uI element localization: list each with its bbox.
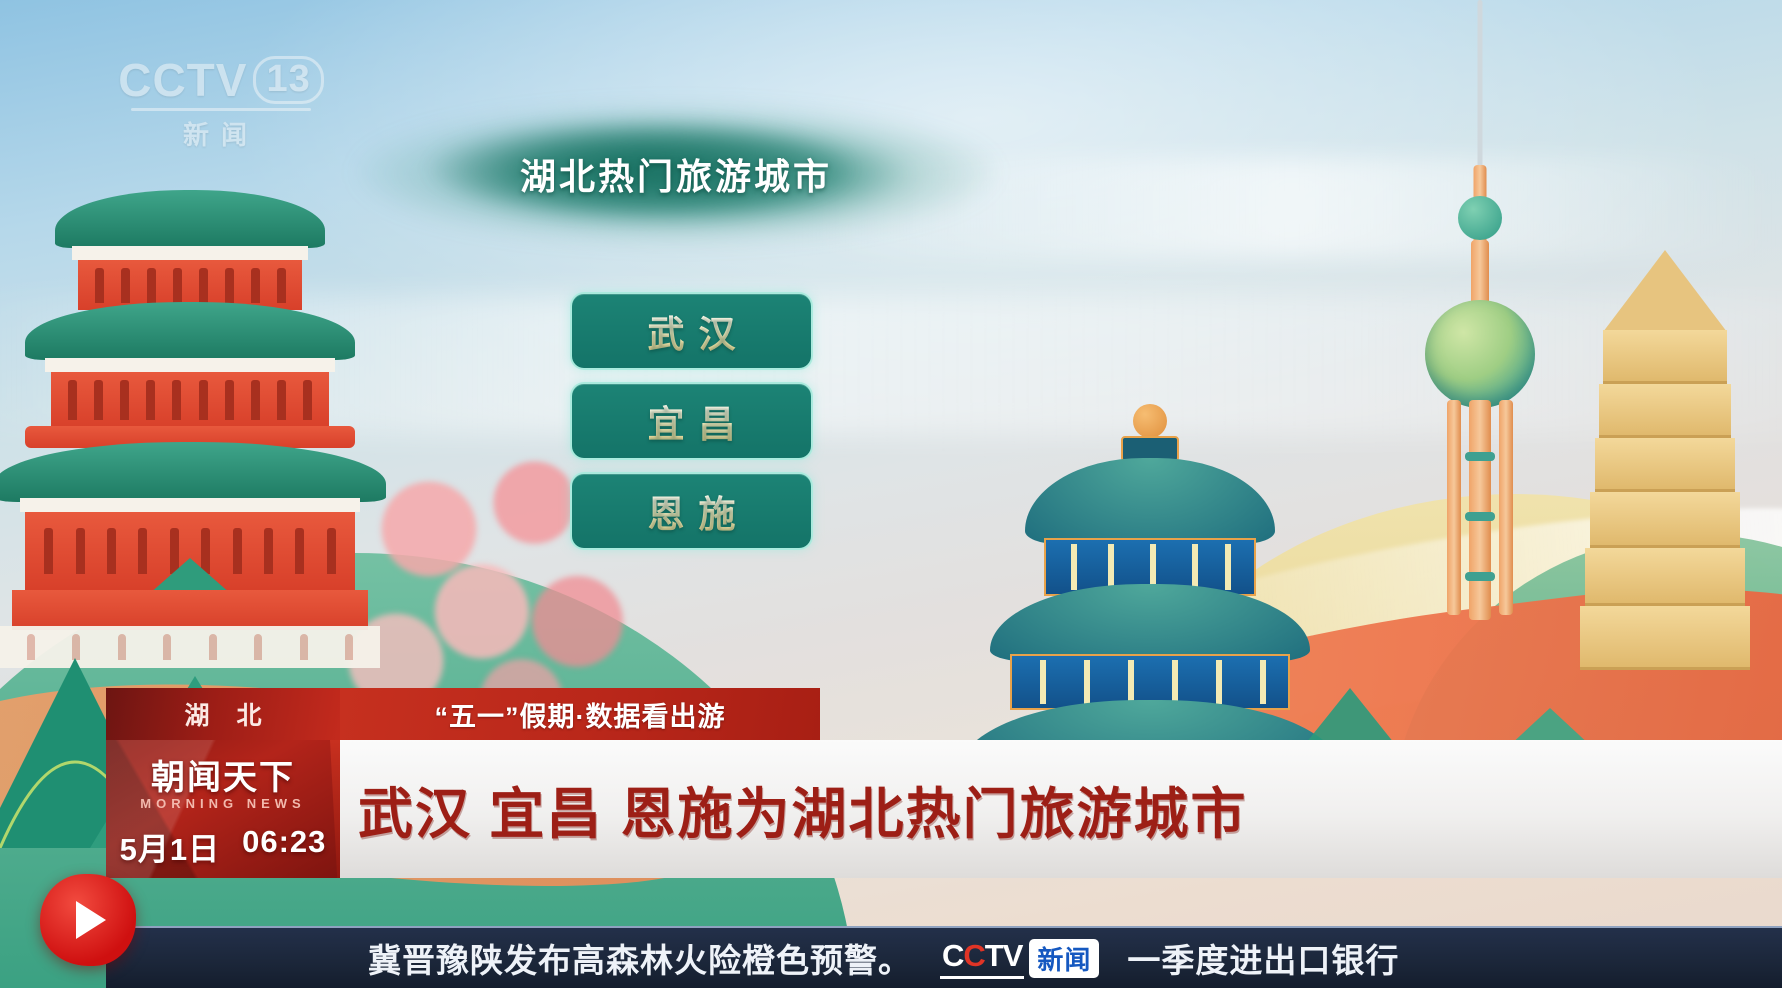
- cctv-news-logo: CCTV 新闻: [940, 938, 1099, 979]
- watermark-cctv-text: CCTV: [118, 57, 247, 103]
- cctv-letters-tv: TV: [985, 938, 1023, 973]
- cctv-logo-text: CCTV: [940, 938, 1024, 979]
- topic-strip: 湖 北 “五一”假期·数据看出游: [106, 688, 820, 740]
- oriental-pearl-tower-illustration: [1420, 0, 1540, 620]
- headline-text: 武汉 宜昌 恩施为湖北热门旅游城市: [358, 769, 1248, 849]
- broadcast-date: 5月1日: [120, 824, 220, 869]
- program-name-en: MORNING NEWS: [106, 796, 340, 811]
- news-badge: 新闻: [1029, 939, 1099, 978]
- cctv-letter-c2: C: [963, 938, 984, 973]
- ticker-item-1: 冀晋豫陕发布高森林火险橙色预警。: [368, 934, 912, 982]
- region-badge: 湖 北: [106, 688, 340, 740]
- lower-third: 湖 北 “五一”假期·数据看出游 朝闻天下 MORNING NEWS 5月1日 …: [0, 688, 1782, 988]
- golden-pagoda-illustration: [1580, 250, 1750, 670]
- graphic-title: 湖北热门旅游城市: [356, 148, 996, 200]
- watermark-rule: [131, 108, 311, 111]
- region-label: 湖 北: [175, 696, 272, 732]
- cctv13-watermark: CCTV 13 新闻: [96, 56, 346, 166]
- broadcast-screen: CCTV 13 新闻 湖北热门旅游城市 武汉 宜昌 恩施 湖 北 “五一”假期·…: [0, 0, 1782, 988]
- yangshipin-play-logo: [40, 874, 136, 966]
- watermark-subtitle: 新闻: [96, 115, 346, 152]
- cctv-letter-c1: C: [942, 938, 963, 973]
- news-ticker[interactable]: 冀晋豫陕发布高森林火险橙色预警。 CCTV 新闻 一季度进出口银行: [106, 926, 1782, 988]
- city-button-wuhan[interactable]: 武汉: [570, 292, 813, 370]
- topic-label: “五一”假期·数据看出游: [435, 695, 726, 734]
- headline-bar: 武汉 宜昌 恩施为湖北热门旅游城市: [340, 740, 1782, 878]
- city-list: 武汉 宜昌 恩施: [570, 292, 813, 550]
- watermark-channel-number: 13: [253, 56, 323, 104]
- broadcast-clock: 5月1日 06:23: [106, 824, 340, 869]
- city-button-yichang[interactable]: 宜昌: [570, 382, 813, 460]
- program-brand-box: 朝闻天下 MORNING NEWS 5月1日 06:23: [106, 740, 340, 878]
- topic-badge: “五一”假期·数据看出游: [340, 688, 820, 740]
- city-label: 恩施: [634, 484, 750, 538]
- play-triangle-icon: [76, 901, 106, 939]
- program-name-cn: 朝闻天下: [106, 750, 340, 799]
- city-label: 武汉: [634, 304, 750, 358]
- city-label: 宜昌: [634, 394, 750, 448]
- city-button-enshi[interactable]: 恩施: [570, 472, 813, 550]
- ticker-item-2: 一季度进出口银行: [1127, 934, 1399, 982]
- broadcast-time: 06:23: [242, 824, 326, 869]
